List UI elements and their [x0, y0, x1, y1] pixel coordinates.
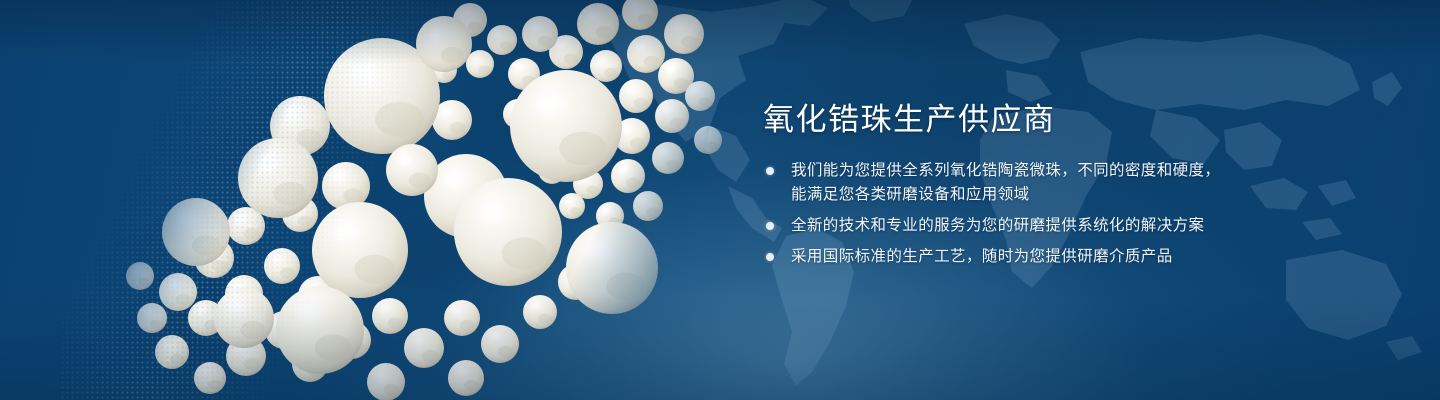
list-item-line: 全新的技术和专业的服务为您的研磨提供系统化的解决方案 — [791, 214, 1323, 238]
list-item-line: 采用国际标准的生产工艺，随时为您提供研磨介质产品 — [791, 245, 1323, 269]
banner-copy: 氧化锆珠生产供应商 我们能为您提供全系列氧化锆陶瓷微珠，不同的密度和硬度， 能满… — [763, 104, 1323, 269]
list-item-line: 能满足您各类研磨设备和应用领域 — [791, 183, 1323, 207]
list-item: 采用国际标准的生产工艺，随时为您提供研磨介质产品 — [763, 245, 1323, 269]
feature-list: 我们能为您提供全系列氧化锆陶瓷微珠，不同的密度和硬度， 能满足您各类研磨设备和应… — [763, 159, 1323, 269]
bullet-dot-icon — [766, 222, 774, 230]
list-item: 全新的技术和专业的服务为您的研磨提供系统化的解决方案 — [763, 214, 1323, 238]
bullet-dot-icon — [766, 253, 774, 261]
hero-banner: 氧化锆珠生产供应商 我们能为您提供全系列氧化锆陶瓷微珠，不同的密度和硬度， 能满… — [0, 0, 1440, 400]
list-item-line: 我们能为您提供全系列氧化锆陶瓷微珠，不同的密度和硬度， — [791, 159, 1323, 183]
list-item: 我们能为您提供全系列氧化锆陶瓷微珠，不同的密度和硬度， 能满足您各类研磨设备和应… — [763, 159, 1323, 207]
page-title: 氧化锆珠生产供应商 — [763, 104, 1323, 137]
bullet-dot-icon — [766, 167, 774, 175]
